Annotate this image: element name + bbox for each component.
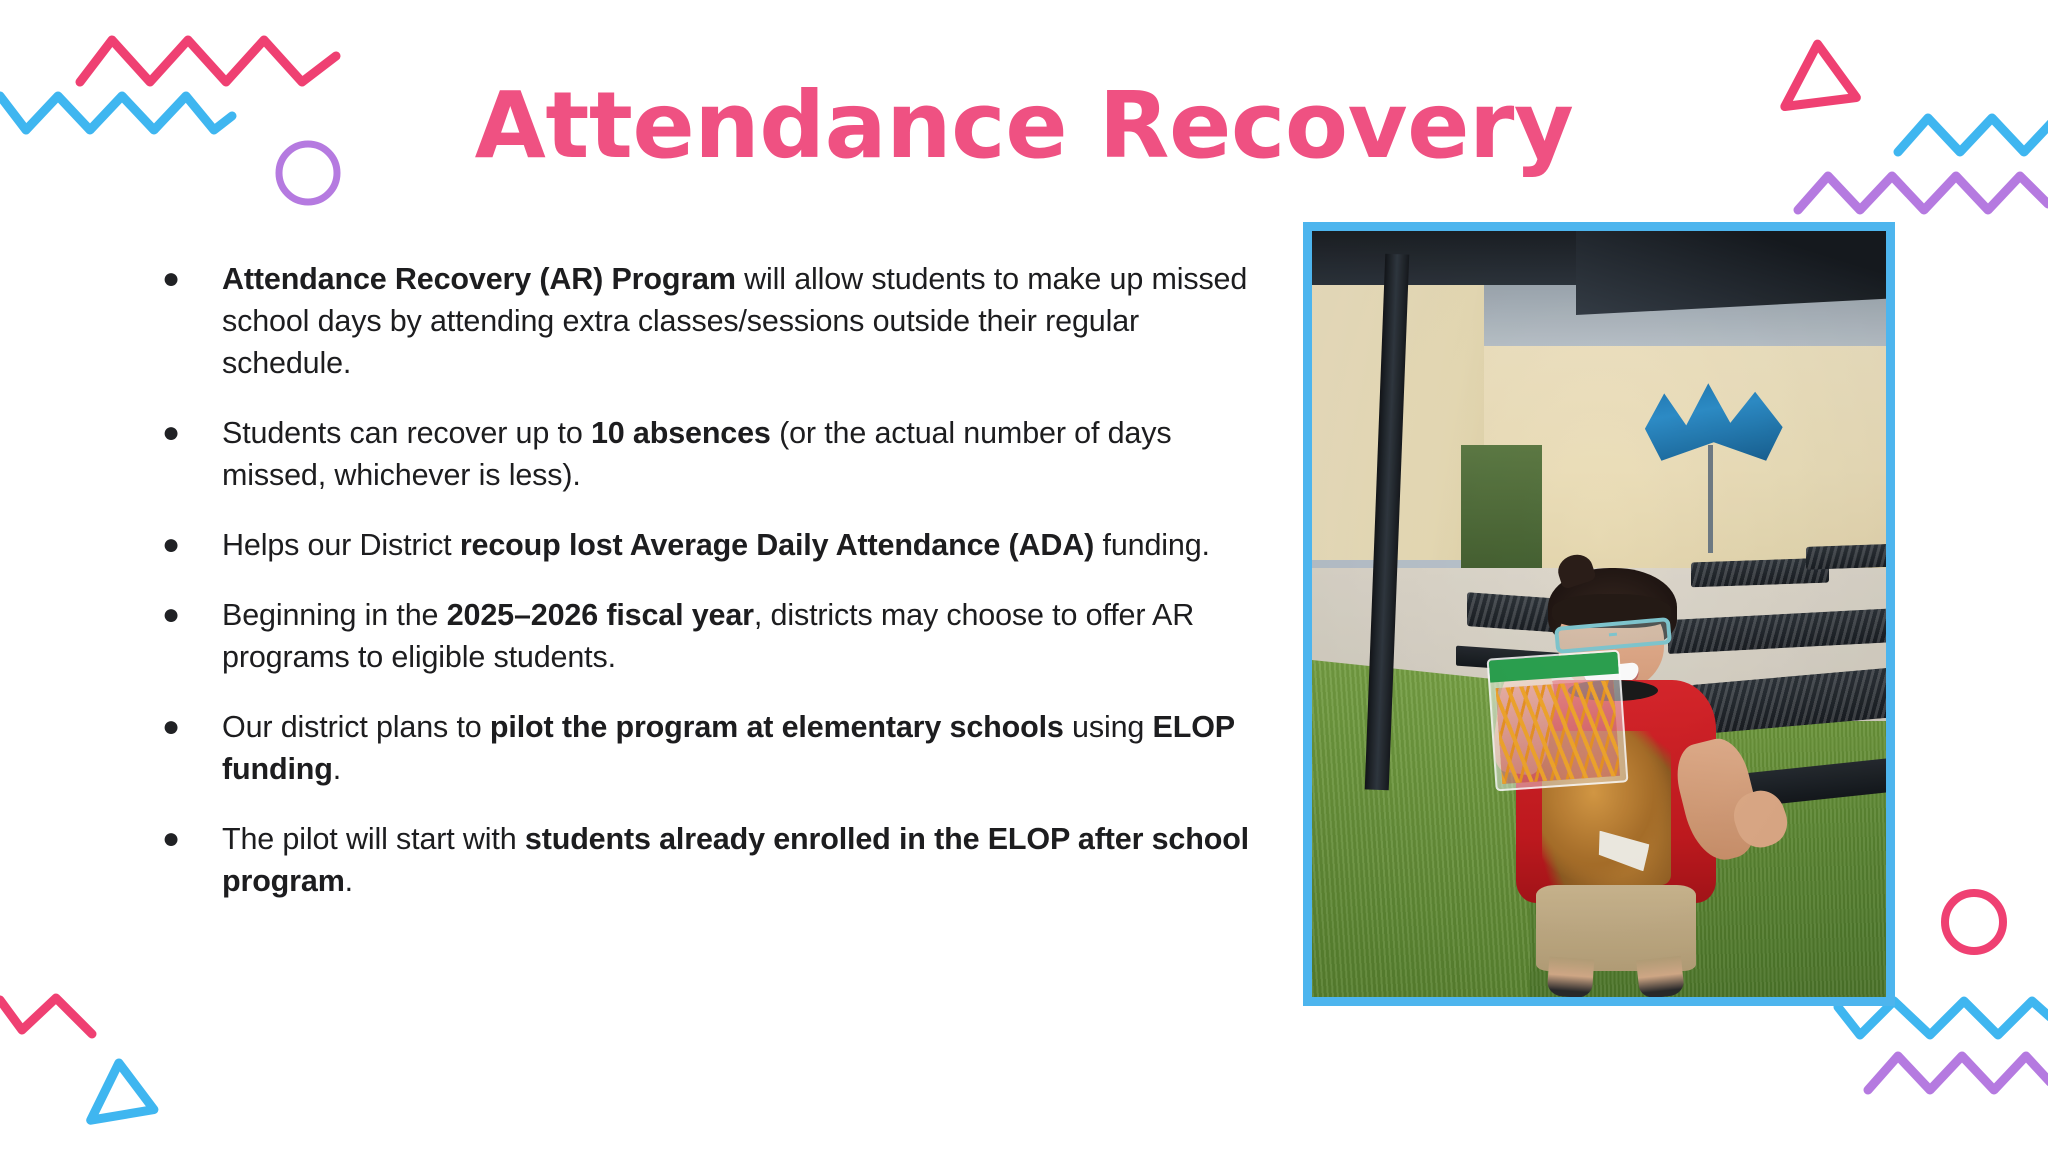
triangle-blue-bottom-left	[80, 1055, 160, 1125]
zigzag-pink-bottom-left	[0, 992, 110, 1042]
list-item: ●Our district plans to pilot the program…	[150, 706, 1270, 790]
photo-scene	[1312, 231, 1886, 997]
circle-pink-bottom-right	[1938, 886, 2010, 958]
bullet-dot-icon: ●	[150, 412, 222, 454]
photo-color-grade	[1312, 231, 1886, 997]
list-item: ●The pilot will start with students alre…	[150, 818, 1270, 902]
bullet-dot-icon: ●	[150, 706, 222, 748]
bullet-dot-icon: ●	[150, 524, 222, 566]
bullet-list: ●Attendance Recovery (AR) Program will a…	[150, 258, 1270, 930]
student-photo	[1303, 222, 1895, 1006]
list-item-text: The pilot will start with students alrea…	[222, 818, 1270, 902]
list-item-text: Our district plans to pilot the program …	[222, 706, 1270, 790]
list-item-text: Students can recover up to 10 absences (…	[222, 412, 1270, 496]
zigzag-purple-top-right	[1798, 168, 2048, 218]
bullet-dot-icon: ●	[150, 594, 222, 636]
bullet-dot-icon: ●	[150, 258, 222, 300]
list-item-text: Beginning in the 2025–2026 fiscal year, …	[222, 594, 1270, 678]
page-title: Attendance Recovery	[0, 78, 2048, 175]
bullet-dot-icon: ●	[150, 818, 222, 860]
zigzag-purple-bottom-right	[1868, 1048, 2048, 1098]
slide-canvas: Attendance Recovery ●Attendance Recovery…	[0, 0, 2048, 1153]
list-item: ●Attendance Recovery (AR) Program will a…	[150, 258, 1270, 384]
list-item-text: Helps our District recoup lost Average D…	[222, 524, 1270, 566]
list-item-text: Attendance Recovery (AR) Program will al…	[222, 258, 1270, 384]
list-item: ●Students can recover up to 10 absences …	[150, 412, 1270, 496]
list-item: ●Helps our District recoup lost Average …	[150, 524, 1270, 566]
list-item: ●Beginning in the 2025–2026 fiscal year,…	[150, 594, 1270, 678]
